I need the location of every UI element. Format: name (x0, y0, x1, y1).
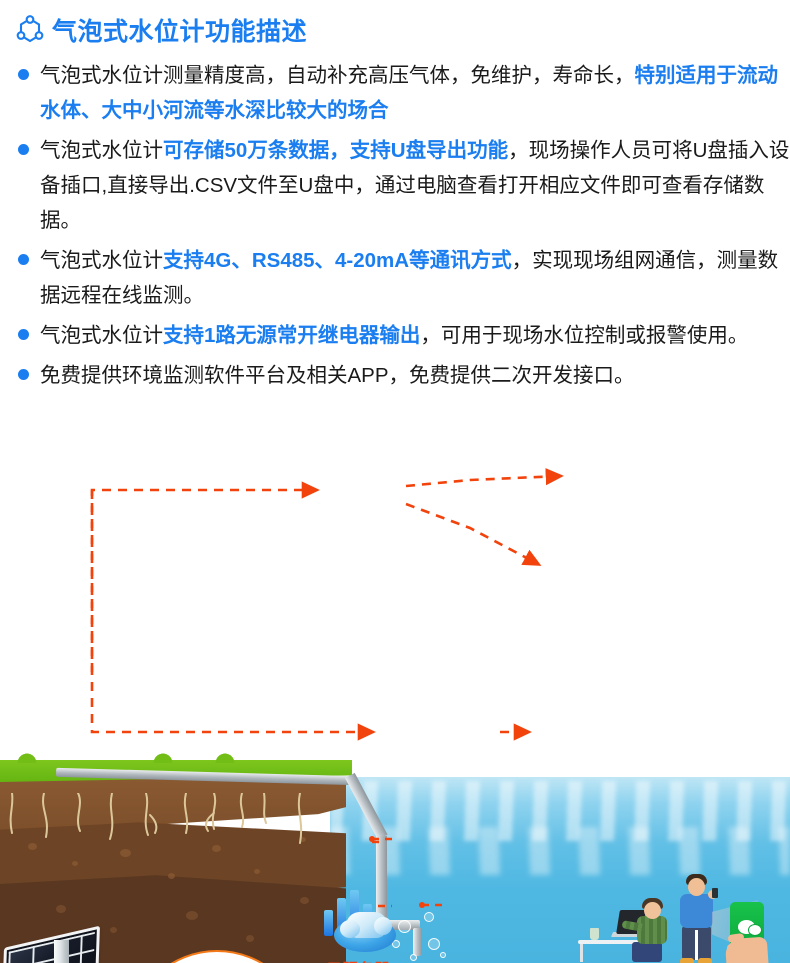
pole-upper (54, 940, 69, 963)
cloud-server-label: 云服务器 (300, 956, 416, 963)
feature-text: 气泡式水位计测量精度高，自动补充高压气体，免维护，寿命长，特别适用于流动水体、大… (40, 58, 790, 128)
highlight-text: 支持1路无源常开继电器输出 (163, 324, 420, 347)
body-text: 气泡式水位计测量精度高，自动补充高压气体，免维护，寿命长， (40, 64, 635, 87)
product-feature-page: 气泡式水位计功能描述 气泡式水位计测量精度高，自动补充高压气体，免维护，寿命长，… (0, 0, 790, 963)
feature-item-accuracy: 气泡式水位计测量精度高，自动补充高压气体，免维护，寿命长，特别适用于流动水体、大… (12, 58, 790, 128)
bullet-dot-icon (18, 144, 29, 155)
bullet-dot-icon (18, 254, 29, 265)
feature-item-software: 免费提供环境监测软件平台及相关APP，免费提供二次开发接口。 (12, 358, 790, 393)
feature-item-storage: 气泡式水位计可存储50万条数据，支持U盘导出功能，现场操作人员可将U盘插入设备插… (12, 133, 790, 238)
molecule-icon (16, 15, 44, 45)
soil-cross-section (0, 777, 346, 963)
highlight-text: 支持4G、RS485、4-20mA等通讯方式 (163, 249, 512, 272)
bullet-dot-icon (18, 69, 29, 80)
feature-text: 气泡式水位计支持1路无源常开继电器输出，可用于现场水位控制或报警使用。 (40, 318, 790, 353)
pc-user-illustration (578, 884, 678, 962)
feature-text: 免费提供环境监测软件平台及相关APP，免费提供二次开发接口。 (40, 358, 790, 393)
air-chamber-icon (413, 928, 422, 956)
wechat-phone-icon (726, 902, 770, 963)
body-text: ，可用于现场水位控制或报警使用。 (420, 324, 748, 347)
feature-item-comms: 气泡式水位计支持4G、RS485、4-20mA等通讯方式，实现现场组网通信，测量… (12, 243, 790, 313)
bullet-dot-icon (18, 329, 29, 340)
feature-item-relay: 气泡式水位计支持1路无源常开继电器输出，可用于现场水位控制或报警使用。 (12, 318, 790, 353)
page-title: 气泡式水位计功能描述 (52, 12, 307, 48)
feature-text: 气泡式水位计支持4G、RS485、4-20mA等通讯方式，实现现场组网通信，测量… (40, 243, 790, 313)
body-text: 气泡式水位计 (40, 249, 163, 272)
page-title-row: 气泡式水位计功能描述 (16, 12, 307, 48)
highlight-text: 可存储50万条数据，支持U盘导出功能 (163, 139, 508, 162)
feature-text: 气泡式水位计可存储50万条数据，支持U盘导出功能，现场操作人员可将U盘插入设备插… (40, 133, 790, 238)
plant-roots-icon (0, 793, 346, 863)
body-text: 免费提供环境监测软件平台及相关APP，免费提供二次开发接口。 (40, 364, 635, 387)
bullet-dot-icon (18, 369, 29, 380)
cloud-server-icon (316, 890, 400, 956)
body-text: 气泡式水位计 (40, 139, 163, 162)
feature-list: 气泡式水位计测量精度高，自动补充高压气体，免维护，寿命长，特别适用于流动水体、大… (12, 58, 790, 398)
system-diagram: 气泡式水位计 ●支持U (0, 432, 790, 963)
body-text: 气泡式水位计 (40, 324, 163, 347)
